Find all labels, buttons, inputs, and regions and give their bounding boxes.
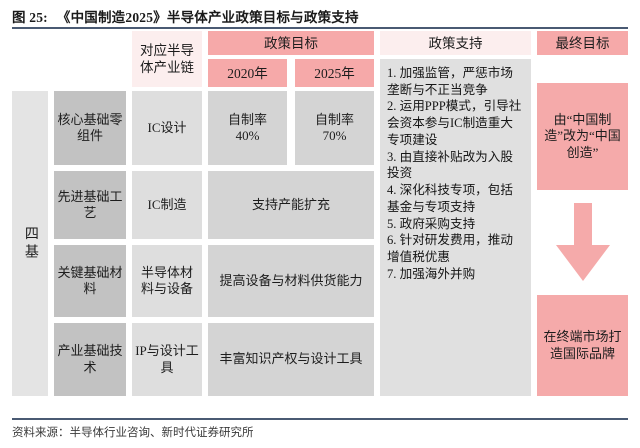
support-item-7: 7. 加强海外并购 xyxy=(387,266,524,283)
page-title: 《中国制造2025》半导体产业政策目标与政策支持 xyxy=(57,6,359,26)
chain-cell-1: IC制造 xyxy=(132,171,202,239)
support-item-3: 3. 由直接补贴改为入股投资 xyxy=(387,149,524,182)
chain-label-3: IP与设计工具 xyxy=(135,343,199,376)
goal-2025-label-0: 自制率 70% xyxy=(315,112,354,145)
goal-merged-cell-1: 支持产能扩充 xyxy=(208,171,374,239)
header-year-2025-label: 2025年 xyxy=(314,65,355,82)
table-row: 先进基础工艺 xyxy=(54,171,126,239)
header-policy-support: 政策支持 xyxy=(380,31,531,55)
header-industry-chain: 对应半导体产业链 xyxy=(132,31,202,87)
support-item-2: 2. 运用PPP模式，引导社会资本参与IC制造重大专项建设 xyxy=(387,98,524,148)
final-goal-top-box: 由“中国制造”改为“中国创造” xyxy=(537,83,628,190)
chain-cell-3: IP与设计工具 xyxy=(132,323,202,396)
base-label-1: 先进基础工艺 xyxy=(57,189,123,222)
goal-merged-label-1: 支持产能扩充 xyxy=(252,197,330,213)
goal-merged-label-2: 提高设备与材料供货能力 xyxy=(219,273,362,289)
chain-cell-2: 半导体材料与设备 xyxy=(132,245,202,317)
base-label-3: 产业基础技术 xyxy=(57,343,123,376)
chain-label-1: IC制造 xyxy=(147,197,186,213)
chain-cell-0: IC设计 xyxy=(132,91,202,165)
figure-title-bar: 图 25: 《中国制造2025》半导体产业政策目标与政策支持 xyxy=(12,4,628,28)
table-row: 核心基础零组件 xyxy=(54,91,126,165)
final-goal-top-label: 由“中国制造”改为“中国创造” xyxy=(540,112,625,161)
support-item-1: 1. 加强监管，严惩市场垄断与不正当竞争 xyxy=(387,65,524,98)
row-group-label-text: 四基 xyxy=(21,226,39,262)
down-arrow-icon xyxy=(552,203,614,285)
header-year-2020: 2020年 xyxy=(208,59,287,87)
row-group-label-sijib: 四基 xyxy=(12,91,48,396)
goal-merged-label-3: 丰富知识产权与设计工具 xyxy=(219,351,362,367)
policy-matrix: 对应半导体产业链 政策目标 2020年 2025年 政策支持 最终目标 四基 核… xyxy=(12,31,628,416)
support-item-4: 4. 深化科技专项，包括基金与专项支持 xyxy=(387,182,524,215)
figure-number: 图 25: xyxy=(12,6,48,26)
table-row: 关键基础材料 xyxy=(54,245,126,317)
chain-label-2: 半导体材料与设备 xyxy=(135,265,199,298)
header-policy-goals-label: 政策目标 xyxy=(264,35,318,52)
final-goal-bottom-label: 在终端市场打造国际品牌 xyxy=(540,329,625,362)
header-industry-chain-label: 对应半导体产业链 xyxy=(135,42,199,76)
header-year-2020-label: 2020年 xyxy=(227,65,268,82)
support-item-6: 6. 针对研发费用，推动增值税优惠 xyxy=(387,232,524,265)
policy-support-list: 1. 加强监管，严惩市场垄断与不正当竞争 2. 运用PPP模式，引导社会资本参与… xyxy=(380,59,531,396)
goal-2020-label-0: 自制率 40% xyxy=(228,112,267,145)
table-row: 产业基础技术 xyxy=(54,323,126,396)
base-label-2: 关键基础材料 xyxy=(57,265,123,298)
header-policy-goals: 政策目标 xyxy=(208,31,374,55)
support-item-5: 5. 政府采购支持 xyxy=(387,216,524,233)
final-goal-bottom-box: 在终端市场打造国际品牌 xyxy=(537,295,628,396)
chain-label-0: IC设计 xyxy=(147,120,186,136)
header-final-goal-label: 最终目标 xyxy=(556,35,610,52)
goal-2020-cell-0: 自制率 40% xyxy=(208,91,287,165)
base-label-0: 核心基础零组件 xyxy=(57,112,123,145)
header-year-2025: 2025年 xyxy=(295,59,374,87)
goal-merged-cell-2: 提高设备与材料供货能力 xyxy=(208,245,374,317)
goal-merged-cell-3: 丰富知识产权与设计工具 xyxy=(208,323,374,396)
header-final-goal: 最终目标 xyxy=(537,31,628,55)
header-policy-support-label: 政策支持 xyxy=(429,35,483,52)
title-divider xyxy=(12,27,628,29)
goal-2025-cell-0: 自制率 70% xyxy=(295,91,374,165)
source-note: 资料来源：半导体行业咨询、新时代证券研究所 xyxy=(12,424,254,440)
footer-divider xyxy=(12,418,628,420)
